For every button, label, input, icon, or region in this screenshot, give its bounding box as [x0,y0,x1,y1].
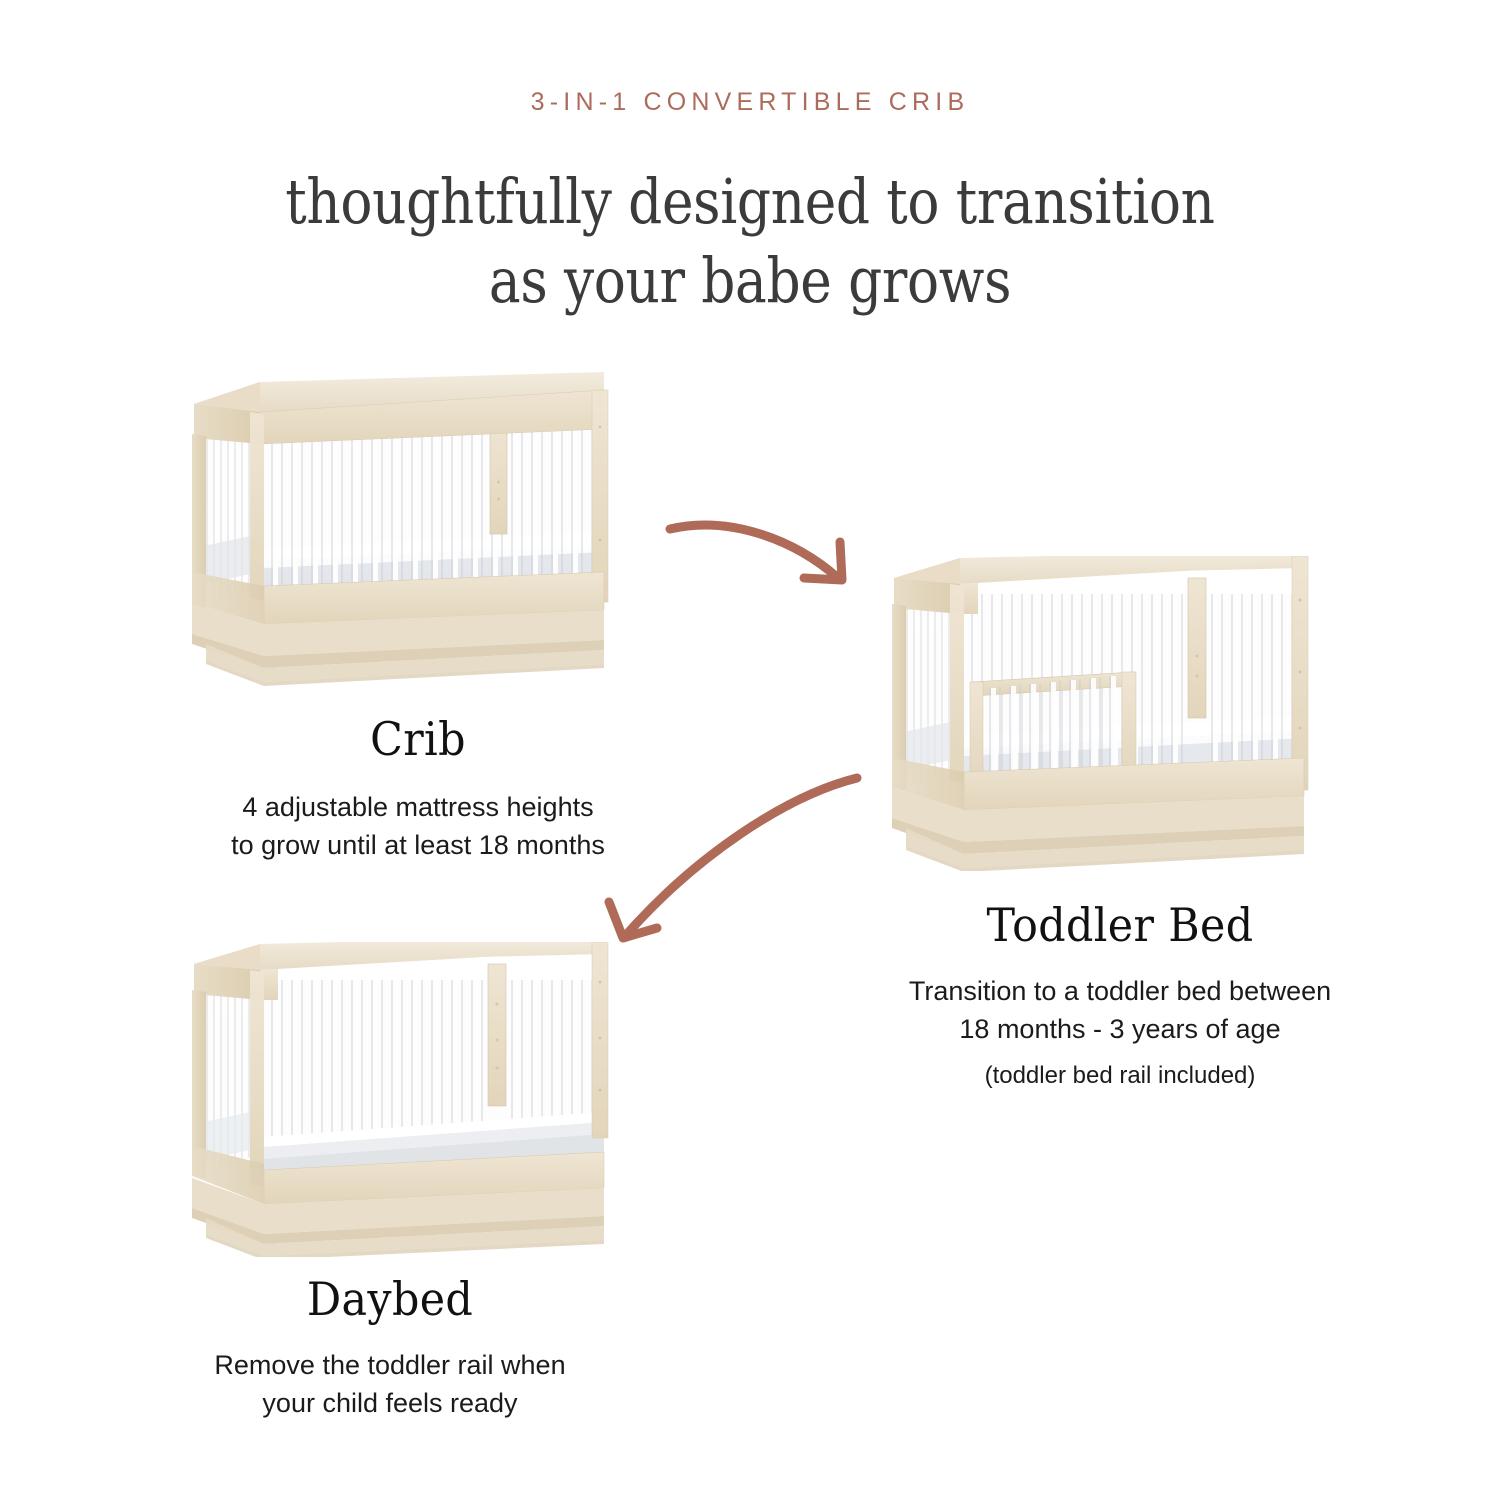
toddler-bed-caption-block: Toddler Bed Transition to a toddler bed … [790,898,1450,1093]
daybed-caption-block: Daybed Remove the toddler rail when your… [60,1272,720,1423]
daybed-caption-line-2: your child feels ready [262,1388,517,1418]
toddler-bed-caption-line-1: Transition to a toddler bed between [909,976,1331,1006]
infographic-canvas: 3-IN-1 CONVERTIBLE CRIB thoughtfully des… [0,0,1500,1500]
crib-post-left-inner [250,412,264,600]
toddler-center-stile [1188,578,1206,718]
crib-caption-line-2: to grow until at least 18 months [231,830,605,860]
toddler-bed-caption: Transition to a toddler bed between 18 m… [790,972,1450,1093]
arrow-crib-to-toddler-bed [660,512,870,612]
daybed-caption-line-1: Remove the toddler rail when [214,1350,565,1380]
daybed-caption: Remove the toddler rail when your child … [60,1346,720,1423]
headline-line-1: thoughtfully designed to transition [285,165,1214,238]
page-title: thoughtfully designed to transition as y… [105,162,1395,321]
eyebrow-label: 3-IN-1 CONVERTIBLE CRIB [0,88,1500,117]
crib-post-right [592,390,608,602]
daybed-illustration [172,942,642,1257]
daybed-post-left-inner [250,970,264,1170]
daybed-title: Daybed [83,1272,697,1326]
crib-illustration [172,372,642,687]
headline-line-2: as your babe grows [489,244,1011,317]
toddler-bed-caption-line-2: 18 months - 3 years of age [959,1014,1280,1044]
crib-center-stile [490,424,507,534]
toddler-bed-title: Toddler Bed [813,898,1427,952]
crib-caption-line-1: 4 adjustable mattress heights [242,792,593,822]
daybed-post-right [592,942,608,1138]
toddler-bed-illustration [872,556,1342,871]
toddler-post-left-inner [950,584,964,782]
arrow-toddler-bed-to-daybed [575,752,875,957]
toddler-bed-caption-note: (toddler bed rail included) [790,1059,1450,1093]
daybed-center-stile [488,964,506,1106]
